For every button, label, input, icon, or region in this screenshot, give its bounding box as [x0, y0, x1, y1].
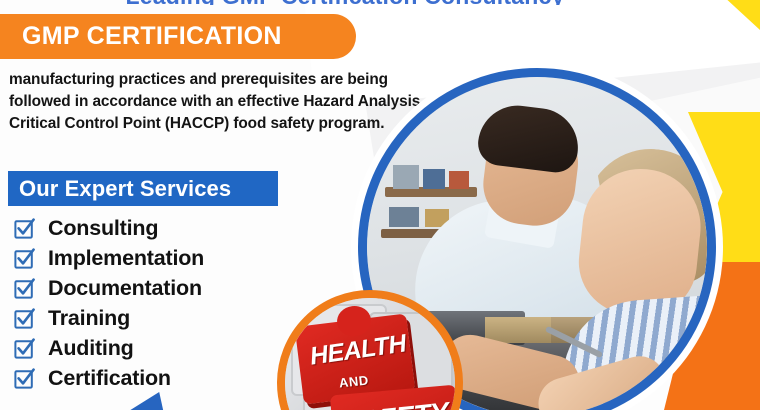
checkbox-checked-icon [14, 278, 35, 299]
service-item-label: Certification [48, 366, 171, 391]
photo-shelf-item-3 [449, 171, 469, 189]
gmp-certification-banner: GMP CERTIFICATION [0, 14, 356, 59]
expert-services-heading: Our Expert Services [8, 176, 231, 202]
service-item[interactable]: Documentation [14, 274, 204, 303]
checkbox-checked-icon [14, 248, 35, 269]
service-item[interactable]: Implementation [14, 244, 204, 273]
photo-workpiece [485, 317, 551, 343]
health-safety-badge: HEALTH AND SAFETY [277, 290, 463, 410]
badge-text-and: AND [338, 372, 369, 390]
service-item-label: Documentation [48, 276, 202, 301]
services-checklist: ConsultingImplementationDocumentationTra… [14, 214, 204, 394]
checkbox-checked-icon [14, 368, 35, 389]
service-item[interactable]: Certification [14, 364, 204, 393]
checkbox-checked-icon [14, 338, 35, 359]
photo-shelf-item-1 [393, 165, 419, 189]
service-item-label: Auditing [48, 336, 134, 361]
photo-shelf-item-4 [389, 207, 419, 227]
gmp-banner-label: GMP CERTIFICATION [0, 22, 282, 51]
service-item[interactable]: Training [14, 304, 204, 333]
service-item-label: Implementation [48, 246, 204, 271]
gmp-certification-poster: Leading GMP Certification Consultancy GM… [0, 0, 760, 410]
service-item[interactable]: Consulting [14, 214, 204, 243]
service-item-label: Consulting [48, 216, 158, 241]
top-cropped-title: Leading GMP Certification Consultancy [0, 0, 690, 5]
health-safety-badge-image: HEALTH AND SAFETY [285, 298, 455, 410]
photo-shelf-item-2 [423, 169, 445, 189]
checkbox-checked-icon [14, 308, 35, 329]
service-item[interactable]: Auditing [14, 334, 204, 363]
expert-services-banner: Our Expert Services [8, 171, 278, 206]
service-item-label: Training [48, 306, 130, 331]
checkbox-checked-icon [14, 218, 35, 239]
